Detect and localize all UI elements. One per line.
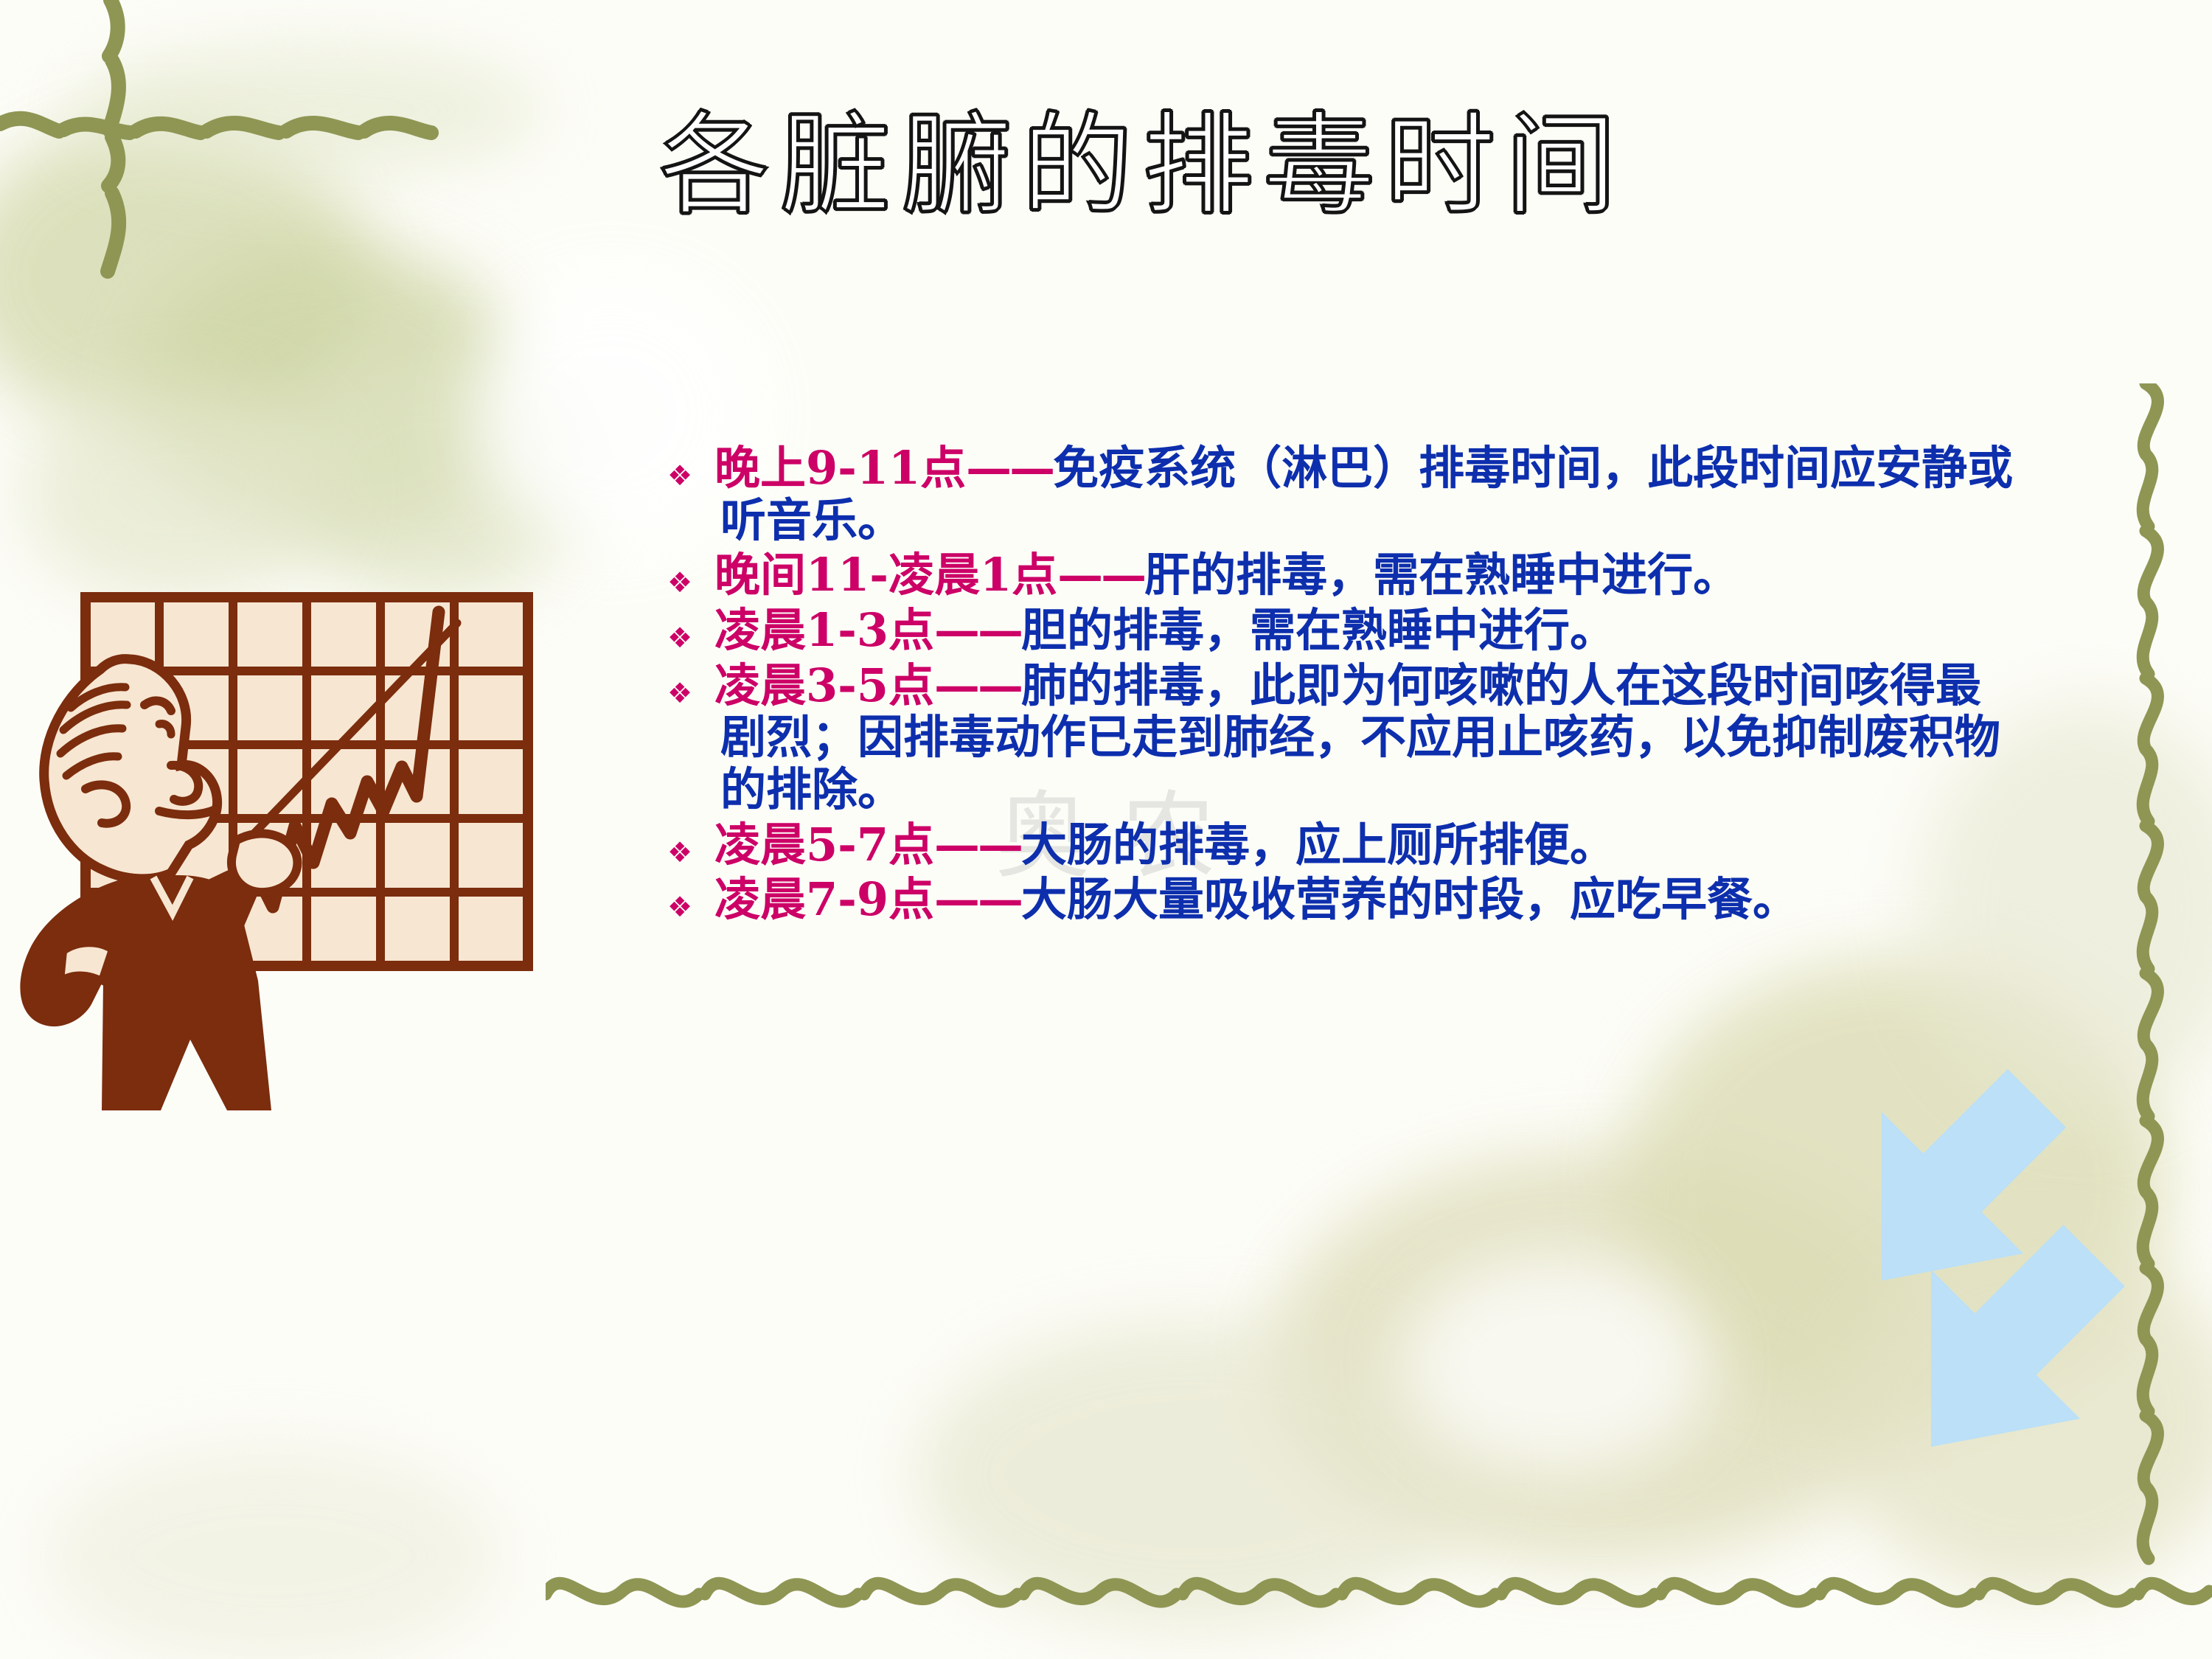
vine-segment-h3 (136, 124, 201, 133)
list-item: ❖ 晚间11-凌晨1点——肝的排毒，需在熟睡中进行。 (667, 549, 2017, 602)
foliage-blob-bottomright-b (1622, 959, 2168, 1416)
vine-wave-1 (2143, 383, 2157, 526)
page-title: 各脏腑的排毒时间 (442, 111, 1843, 221)
vine-wave-8 (2143, 1416, 2157, 1559)
vine-segment-v3 (108, 137, 118, 186)
em-dash: —— (934, 818, 1021, 872)
vine-segment-h6 (364, 123, 431, 133)
bottom-vine (546, 1556, 2212, 1637)
vine-segment-v2 (109, 60, 119, 130)
businessman-pointing-at-chart-clipart (15, 582, 634, 1113)
vine-wave-5 (2143, 973, 2157, 1116)
bottom-wave-2 (705, 1583, 858, 1601)
bottom-wave-7 (1501, 1583, 1655, 1601)
diamond-bullet-icon: ❖ (667, 660, 720, 707)
em-dash: —— (1057, 548, 1144, 602)
bottom-wave-9 (1820, 1583, 1973, 1601)
foliage-blob-bottomleft (44, 1445, 501, 1659)
list-item-text: 凌晨1-3点——胆的排毒，需在熟睡中进行。 (720, 605, 2017, 657)
blue-arrows-decoration (1659, 951, 2190, 1585)
vine-wave-4 (2143, 826, 2157, 969)
vine-wave-6 (2143, 1121, 2157, 1264)
em-dash: —— (934, 603, 1021, 657)
list-item-text: 晚上9-11点——免疫系统（淋巴）排毒时间，此段时间应安静或听音乐。 (720, 442, 2017, 546)
foliage-blob-topleft-b (140, 243, 524, 531)
detox-schedule-list: ❖ 晚上9-11点——免疫系统（淋巴）排毒时间，此段时间应安静或听音乐。 ❖ 晚… (667, 442, 2017, 929)
bottom-wave-4 (1023, 1583, 1177, 1601)
right-vine (2124, 383, 2212, 1593)
foliage-blob-bottomright-a (1268, 1150, 1932, 1563)
vine-segment-h2 (63, 125, 130, 133)
em-dash: —— (934, 658, 1021, 712)
description-text: 大肠的排毒，应上厕所排便。 (1021, 818, 1615, 872)
vine-segment-v4 (108, 193, 119, 271)
foliage-blob-bottomcenter (914, 1320, 1475, 1630)
bottom-wave-6 (1342, 1583, 1495, 1601)
description-text: 胆的排毒，需在熟睡中进行。 (1021, 603, 1615, 657)
bottom-wave-1 (546, 1583, 699, 1601)
bottom-wave-5 (1183, 1583, 1336, 1601)
vine-wave-2 (2143, 531, 2157, 674)
foliage-blob-white-highlight-b (1401, 1253, 1711, 1475)
diamond-bullet-icon: ❖ (667, 819, 720, 866)
diamond-bullet-icon: ❖ (667, 549, 720, 597)
list-item: ❖ 凌晨5-7点——大肠的排毒，应上厕所排便。 (667, 819, 2017, 872)
diamond-bullet-icon: ❖ (667, 442, 720, 490)
list-item-text: 凌晨5-7点——大肠的排毒，应上厕所排便。 (720, 819, 2017, 872)
em-dash: —— (966, 441, 1053, 495)
list-item-text: 晚间11-凌晨1点——肝的排毒，需在熟睡中进行。 (720, 549, 2017, 602)
vine-wave-7 (2143, 1268, 2157, 1411)
time-label: 凌晨1-3点 (714, 603, 934, 657)
time-label: 凌晨7-9点 (714, 872, 934, 926)
foliage-blob-topleft-a (0, 118, 369, 435)
description-text: 肝的排毒，需在熟睡中进行。 (1144, 548, 1739, 602)
vine-segment-h1 (0, 119, 59, 131)
foliage-blob-bottomright-c (1829, 1239, 2212, 1593)
diamond-bullet-icon: ❖ (667, 605, 720, 652)
slide-canvas: 各脏腑的排毒时间 (0, 0, 2212, 1659)
foliage-blob-topleft-d (22, 383, 332, 605)
list-item: ❖ 晚上9-11点——免疫系统（淋巴）排毒时间，此段时间应安静或听音乐。 (667, 442, 2017, 546)
top-left-vine (0, 0, 457, 383)
vine-segment-v1 (109, 0, 118, 56)
up-arrow-back (1797, 1027, 2107, 1338)
vine-segment-h4 (206, 123, 279, 133)
em-dash: —— (934, 872, 1021, 926)
bottom-wave-3 (864, 1583, 1018, 1601)
list-item: ❖ 凌晨1-3点——胆的排毒，需在熟睡中进行。 (667, 605, 2017, 657)
list-item-text: 凌晨7-9点——大肠大量吸收营养的时段，应吃早餐。 (720, 874, 2017, 926)
time-label: 凌晨3-5点 (714, 658, 934, 712)
list-item-text: 凌晨3-5点——肺的排毒，此即为何咳嗽的人在这段时间咳得最剧烈；因排毒动作已走到… (720, 660, 2017, 816)
bottom-wave-8 (1660, 1583, 1814, 1601)
time-label: 晚间11-凌晨1点 (714, 548, 1057, 602)
time-label: 晚上9-11点 (714, 441, 966, 495)
bottom-wave-11 (2138, 1583, 2209, 1599)
description-text: 大肠大量吸收营养的时段，应吃早餐。 (1021, 872, 1798, 926)
time-label: 凌晨5-7点 (714, 818, 934, 872)
list-item: ❖ 凌晨7-9点——大肠大量吸收营养的时段，应吃早餐。 (667, 874, 2017, 926)
diamond-bullet-icon: ❖ (667, 874, 720, 921)
up-arrow-front (1843, 1181, 2169, 1508)
bottom-wave-10 (1979, 1583, 2132, 1601)
vine-segment-h5 (286, 123, 358, 133)
vine-wave-3 (2143, 678, 2157, 821)
foliage-blob-topleft-c (280, 354, 590, 597)
list-item: ❖ 凌晨3-5点——肺的排毒，此即为何咳嗽的人在这段时间咳得最剧烈；因排毒动作已… (667, 660, 2017, 816)
